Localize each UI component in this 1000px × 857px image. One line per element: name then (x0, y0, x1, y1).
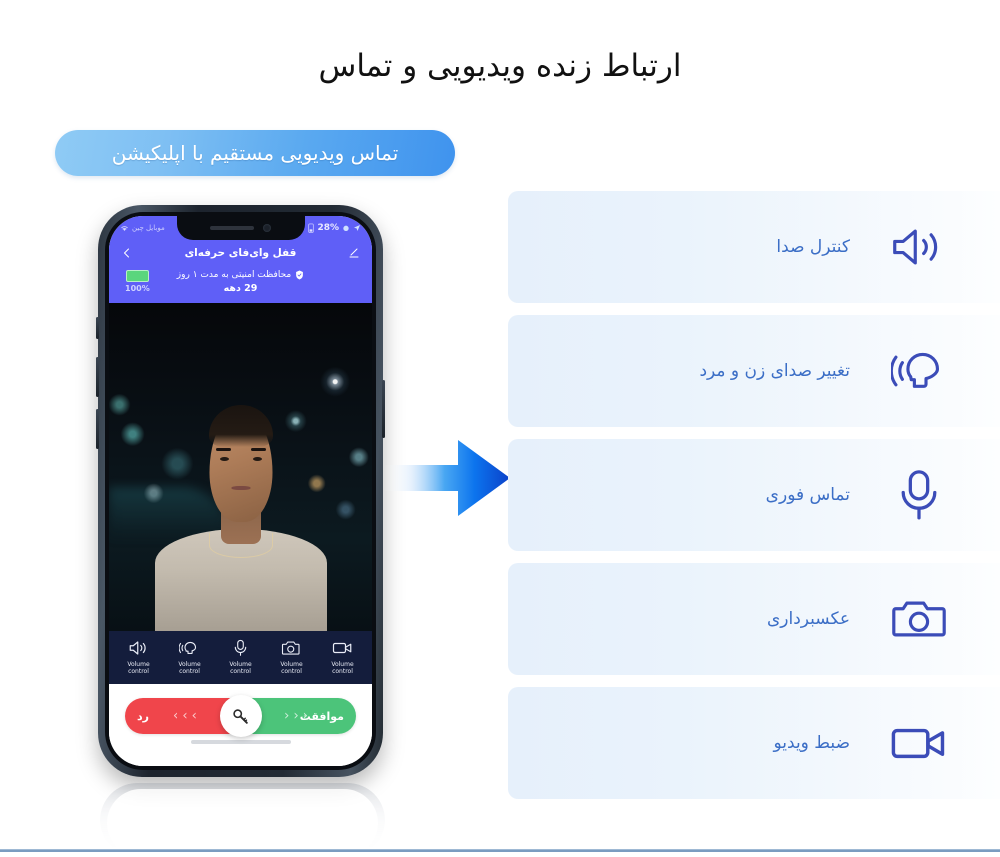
protection-status: محافظت امنیتی به مدت ۱ روز 29 دهه (177, 270, 304, 294)
chevron-left-icon (121, 246, 133, 260)
portrait-eye-left (220, 457, 229, 461)
protection-status-line: محافظت امنیتی به مدت ۱ روز (177, 270, 304, 280)
back-button[interactable] (119, 245, 135, 261)
portrait-brow-left (216, 448, 231, 451)
toolbar-item-voice-change[interactable]: Volume control (167, 639, 213, 675)
portrait-mouth (231, 486, 250, 490)
phone-screen: موبایل چین 28 (109, 216, 372, 766)
feature-label: عکسبرداری (767, 609, 850, 629)
location-icon (353, 224, 361, 232)
feature-item-voice-change[interactable]: تغییر صدای زن و مرد (508, 315, 1000, 427)
carrier-label: موبایل چین (132, 224, 165, 232)
toolbar-label: Volume control (280, 661, 302, 675)
toolbar-item-camera[interactable]: Volume control (269, 639, 315, 675)
phone-volume-down-button (96, 409, 99, 449)
toolbar-item-volume[interactable]: Volume control (116, 639, 162, 675)
call-slider-knob[interactable] (220, 695, 262, 737)
protection-days-text: 29 دهه (177, 283, 304, 294)
app-header-subtitle-row: 100% محافظت امنیتی به مدت ۱ روز 29 دهه (119, 270, 362, 294)
caller-portrait (155, 388, 327, 631)
feature-label: کنترل صدا (776, 237, 850, 257)
feature-list: کنترل صدا تغییر صدای زن و مرد تماس فوری (508, 191, 1000, 811)
camera-icon (890, 590, 948, 648)
status-bar-left: موبایل چین (120, 224, 165, 232)
microphone-icon (890, 466, 948, 524)
toolbar-label: Volume control (331, 661, 353, 675)
camera-icon (281, 639, 302, 657)
battery-percent-label: 28% (317, 223, 339, 233)
call-controls-toolbar: Volume control Volume control (109, 631, 372, 684)
portrait-brow-right (251, 448, 266, 451)
front-camera-icon (263, 224, 271, 232)
page-bottom-divider (0, 849, 1000, 852)
portrait-eye-right (253, 457, 262, 461)
app-header-title: قفل وای‌فای حرفه‌ای (135, 247, 346, 259)
portrait-hair (209, 405, 273, 446)
feature-label: تماس فوری (766, 485, 850, 505)
arrow-right-icon (384, 432, 510, 524)
feature-item-photo-capture[interactable]: عکسبرداری (508, 563, 1000, 675)
feature-label: ضبط ویدیو (774, 733, 850, 753)
phone-power-button (382, 380, 385, 438)
toolbar-label: Volume control (127, 661, 149, 675)
phone-bezel: موبایل چین 28 (105, 212, 376, 770)
toolbar-item-microphone[interactable]: Volume control (218, 639, 264, 675)
toolbar-label: Volume control (229, 661, 251, 675)
phone-notch (177, 216, 305, 240)
key-icon (231, 707, 250, 726)
alarm-icon (342, 224, 350, 232)
feature-item-instant-call[interactable]: تماس فوری (508, 439, 1000, 551)
phone-reflection (100, 783, 385, 857)
home-indicator (191, 740, 291, 744)
call-slide-control[interactable]: رد ‹ ‹ ‹ › › › موافقت (125, 698, 356, 734)
page-title: ارتباط زنده ویدیویی و تماس (0, 48, 1000, 84)
volume-icon (890, 218, 948, 276)
battery-icon (308, 223, 314, 233)
feature-item-volume-control[interactable]: کنترل صدا (508, 191, 1000, 303)
protection-status-text: محافظت امنیتی به مدت ۱ روز (177, 270, 291, 280)
video-camera-icon (332, 639, 353, 657)
microphone-icon (230, 639, 251, 657)
earpiece-speaker-icon (210, 226, 254, 230)
pointer-arrow (384, 432, 510, 524)
reject-chevrons: ‹ ‹ ‹ (173, 710, 197, 723)
feature-item-video-record[interactable]: ضبط ویدیو (508, 687, 1000, 799)
device-battery-indicator: 100% (125, 270, 150, 293)
voice-change-icon (890, 342, 948, 400)
wifi-icon (120, 224, 129, 232)
edit-button[interactable] (346, 245, 362, 261)
reject-call-label: رد (137, 710, 149, 723)
shield-check-icon (295, 270, 304, 280)
pencil-icon (348, 247, 360, 259)
volume-icon (128, 639, 149, 657)
feature-label: تغییر صدای زن و مرد (699, 361, 850, 381)
video-camera-icon (890, 714, 948, 772)
phone-frame: موبایل چین 28 (98, 205, 383, 777)
toolbar-item-video[interactable]: Volume control (320, 639, 366, 675)
toolbar-label: Volume control (178, 661, 200, 675)
accept-chevrons: › › › (284, 710, 308, 723)
phone-reflection-screen (107, 789, 378, 857)
phone-mockup: موبایل چین 28 (98, 205, 388, 790)
phone-volume-up-button (96, 357, 99, 397)
voice-change-icon (179, 639, 200, 657)
feature-badge-label: تماس ویدیویی مستقیم با اپلیکیشن (112, 141, 399, 165)
status-bar-right: 28% (308, 223, 361, 233)
app-header-row: قفل وای‌فای حرفه‌ای (119, 243, 362, 263)
battery-level-bar (126, 270, 149, 282)
app-header: قفل وای‌فای حرفه‌ای 100% (109, 239, 372, 303)
feature-badge-pill: تماس ویدیویی مستقیم با اپلیکیشن (55, 130, 455, 176)
phone-mute-switch (96, 317, 99, 339)
page-bottom-divider-highlight (0, 849, 1000, 850)
battery-level-label: 100% (125, 284, 150, 293)
video-call-preview (109, 303, 372, 631)
incoming-call-actions: رد ‹ ‹ ‹ › › › موافقت (109, 684, 372, 766)
